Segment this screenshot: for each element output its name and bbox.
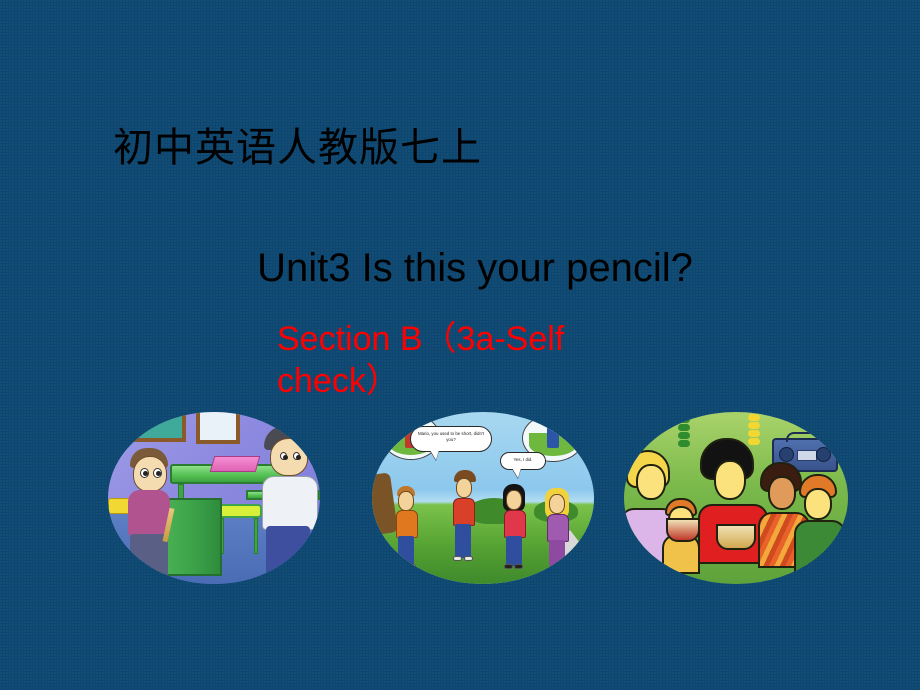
party-background: [624, 412, 848, 584]
shoe: [453, 556, 462, 561]
shoe: [504, 564, 513, 569]
speech-bubble-answer: Yes, I did.: [500, 452, 546, 470]
boy-shirt: [262, 476, 318, 530]
shoe: [407, 564, 416, 569]
head: [714, 460, 746, 500]
snack-bowl: [716, 524, 756, 550]
chinese-title: 初中英语人教版七上: [113, 124, 533, 172]
head: [506, 490, 522, 510]
boombox-speaker-right: [816, 447, 831, 462]
tree-trunk: [372, 472, 398, 535]
thought-kid: [547, 424, 559, 448]
boy-head: [270, 438, 308, 476]
torso: [794, 520, 846, 578]
torso: [504, 510, 526, 538]
boy-eye-left: [280, 452, 287, 460]
torso: [396, 510, 418, 538]
pink-notebook: [210, 456, 261, 472]
section-subtitle: Section B（3a-Self check）: [277, 318, 607, 402]
torso: [453, 498, 475, 526]
slide-canvas: 初中英语人教版七上 Unit3 Is this your pencil? Sec…: [0, 0, 920, 690]
girl-eye-right: [153, 468, 162, 478]
classroom-picture-frame: [196, 412, 240, 444]
legs: [506, 536, 522, 566]
boy-eye-right: [293, 452, 300, 460]
head: [549, 494, 565, 514]
boombox-handle: [786, 432, 826, 442]
classroom-background: [108, 412, 320, 584]
boy-trousers: [266, 526, 310, 574]
picture-classroom-scene: [108, 412, 320, 584]
shoe: [464, 556, 473, 561]
head: [804, 488, 832, 520]
streamer-yellow: [748, 412, 760, 450]
speech-bubble-question: Mario, you used to be short, didn't you?: [410, 426, 492, 452]
shoe: [396, 564, 405, 569]
legs: [398, 536, 414, 566]
head: [456, 478, 472, 498]
head: [398, 491, 414, 511]
legs: [549, 540, 565, 566]
picture-party-scene: [624, 412, 848, 584]
girl-shirt: [128, 490, 170, 536]
unit-title: Unit3 Is this your pencil?: [240, 245, 710, 291]
legs: [455, 524, 471, 558]
boombox-speaker-left: [779, 447, 794, 462]
streamer-green: [678, 412, 690, 452]
boombox-cassette-deck: [797, 450, 817, 461]
torso: [547, 514, 569, 542]
girl-eye-left: [140, 468, 149, 478]
picture-park-conversation-scene: Mario, you used to be short, didn't you?…: [372, 412, 594, 584]
head: [768, 476, 796, 510]
head: [636, 464, 666, 500]
chair-leg: [254, 518, 258, 554]
shoe: [514, 564, 523, 569]
snack-bowl: [666, 518, 700, 542]
park-background: Mario, you used to be short, didn't you?…: [372, 412, 594, 584]
classroom-window: [132, 412, 186, 442]
